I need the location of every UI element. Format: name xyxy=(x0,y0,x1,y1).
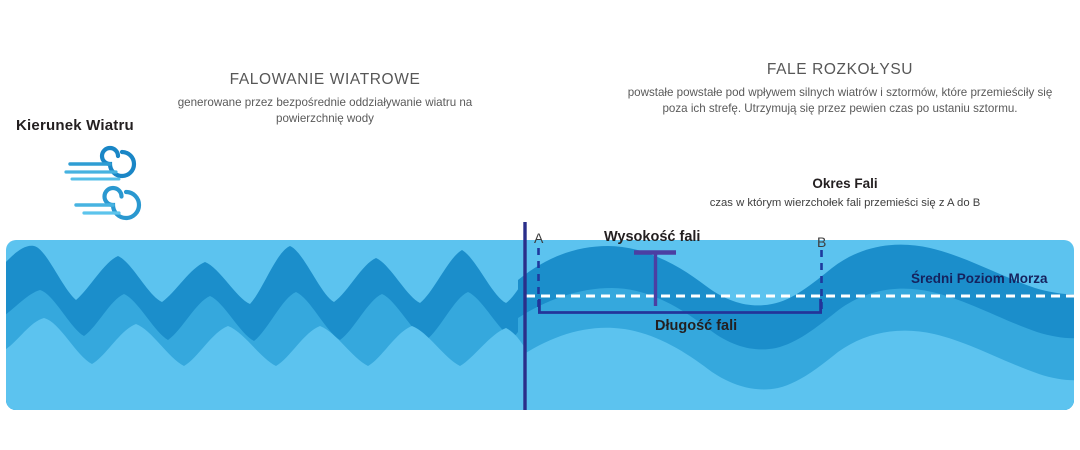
wind-wave-text-block: FALOWANIE WIATROWE generowane przez bezp… xyxy=(160,70,490,128)
swell-subtitle: powstałe powstałe pod wpływem silnych wi… xyxy=(620,85,1060,118)
point-a-label: A xyxy=(534,230,543,246)
wind-wave-subtitle: generowane przez bezpośrednie oddziaływa… xyxy=(160,95,490,128)
wave-height-label: Wysokość fali xyxy=(604,229,700,245)
wind-swirl-icon xyxy=(66,148,139,218)
mean-sea-level-label: Średni Poziom Morza xyxy=(911,271,1048,286)
water-body xyxy=(0,235,1080,450)
wave-period-subtitle: czas w którym wierzchołek fali przemieśc… xyxy=(700,196,990,212)
wave-period-text-block: Okres Fali czas w którym wierzchołek fal… xyxy=(700,175,990,211)
point-b-label: B xyxy=(817,234,826,250)
wind-wave-title: FALOWANIE WIATROWE xyxy=(160,70,490,91)
swell-title: FALE ROZKOŁYSU xyxy=(620,60,1060,81)
wind-direction-label: Kierunek Wiatru xyxy=(16,117,134,134)
wave-diagram: Kierunek Wiatru FALOWANIE WIATROWE gener… xyxy=(0,0,1080,450)
swell-text-block: FALE ROZKOŁYSU powstałe powstałe pod wpł… xyxy=(620,60,1060,118)
wave-period-title: Okres Fali xyxy=(700,175,990,193)
wave-length-label: Długość fali xyxy=(655,318,737,334)
